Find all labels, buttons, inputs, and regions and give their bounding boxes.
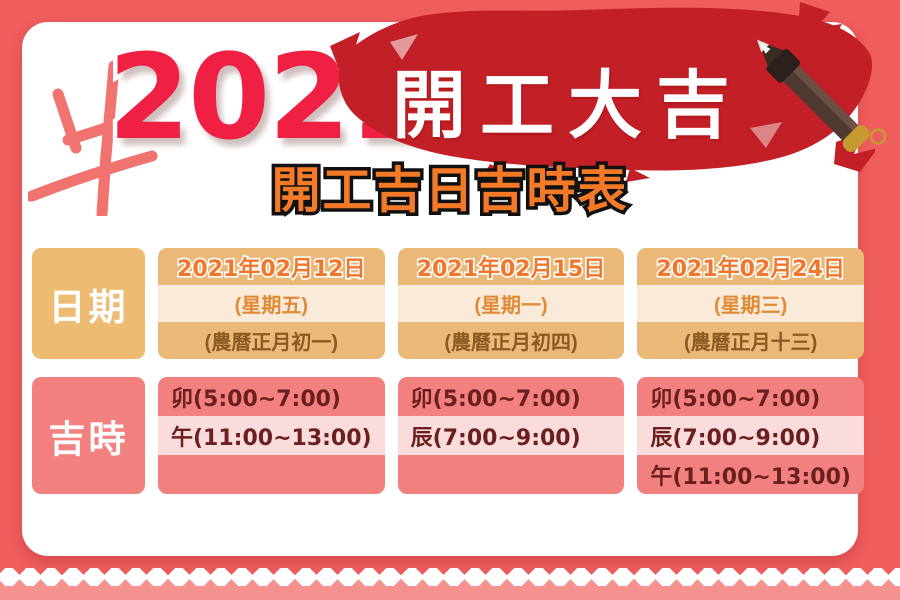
- date-band-weekday: (星期一): [398, 285, 625, 322]
- hour-band: 卯(5:00~7:00): [637, 377, 864, 416]
- hour-value: 午(11:00~13:00): [650, 459, 851, 491]
- auspicious-schedule-table: 日期 2021年02月12日 (星期五) (農曆正月初一) 2021年02月15…: [32, 248, 864, 494]
- hour-band: 辰(7:00~9:00): [398, 416, 625, 455]
- date-band-gregorian: 2021年02月24日: [637, 248, 864, 285]
- date-value: 2021年02月15日: [417, 251, 605, 283]
- date-column-2: 2021年02月15日 (星期一) (農曆正月初四): [398, 248, 625, 359]
- weekday-value: (星期一): [474, 289, 547, 318]
- date-band-gregorian: 2021年02月12日: [158, 248, 385, 285]
- date-row: 日期 2021年02月12日 (星期五) (農曆正月初一) 2021年02月15…: [32, 248, 864, 359]
- hour-band: 午(11:00~13:00): [637, 455, 864, 494]
- hour-band-empty: [398, 455, 625, 494]
- lunar-value: (農曆正月十三): [684, 326, 817, 355]
- diamond-ornament: [886, 568, 900, 586]
- date-band-weekday: (星期三): [637, 285, 864, 322]
- date-band-gregorian: 2021年02月15日: [398, 248, 625, 285]
- diamond-border-pattern: [0, 568, 900, 586]
- hour-band: 午(11:00~13:00): [158, 416, 385, 455]
- auspicious-hours-row: 吉時 卯(5:00~7:00) 午(11:00~13:00) 卯(5:00~7:…: [32, 377, 864, 494]
- hour-band: 辰(7:00~9:00): [637, 416, 864, 455]
- hour-value: 辰(7:00~9:00): [650, 420, 820, 452]
- date-column-1: 2021年02月12日 (星期五) (農曆正月初一): [158, 248, 385, 359]
- hour-band-empty: [158, 455, 385, 494]
- date-value: 2021年02月24日: [656, 251, 844, 283]
- weekday-value: (星期三): [714, 289, 787, 318]
- lunar-value: (農曆正月初一): [205, 326, 338, 355]
- hour-value: 卯(5:00~7:00): [650, 381, 820, 413]
- row-label-hours: 吉時: [32, 377, 145, 494]
- lunar-value: (農曆正月初四): [444, 326, 577, 355]
- date-band-lunar: (農曆正月初四): [398, 322, 625, 359]
- hour-value: 卯(5:00~7:00): [171, 381, 341, 413]
- date-band-lunar: (農曆正月初一): [158, 322, 385, 359]
- hour-value: 辰(7:00~9:00): [411, 420, 581, 452]
- weekday-value: (星期五): [235, 289, 308, 318]
- hour-band: 卯(5:00~7:00): [158, 377, 385, 416]
- hours-column-1: 卯(5:00~7:00) 午(11:00~13:00): [158, 377, 385, 494]
- hour-value: 午(11:00~13:00): [171, 420, 372, 452]
- row-label-date: 日期: [32, 248, 145, 359]
- date-column-3: 2021年02月24日 (星期三) (農曆正月十三): [637, 248, 864, 359]
- hour-band: 卯(5:00~7:00): [398, 377, 625, 416]
- date-band-lunar: (農曆正月十三): [637, 322, 864, 359]
- date-band-weekday: (星期五): [158, 285, 385, 322]
- hours-column-2: 卯(5:00~7:00) 辰(7:00~9:00): [398, 377, 625, 494]
- hour-value: 卯(5:00~7:00): [411, 381, 581, 413]
- date-value: 2021年02月12日: [177, 251, 365, 283]
- hours-column-3: 卯(5:00~7:00) 辰(7:00~9:00) 午(11:00~13:00): [637, 377, 864, 494]
